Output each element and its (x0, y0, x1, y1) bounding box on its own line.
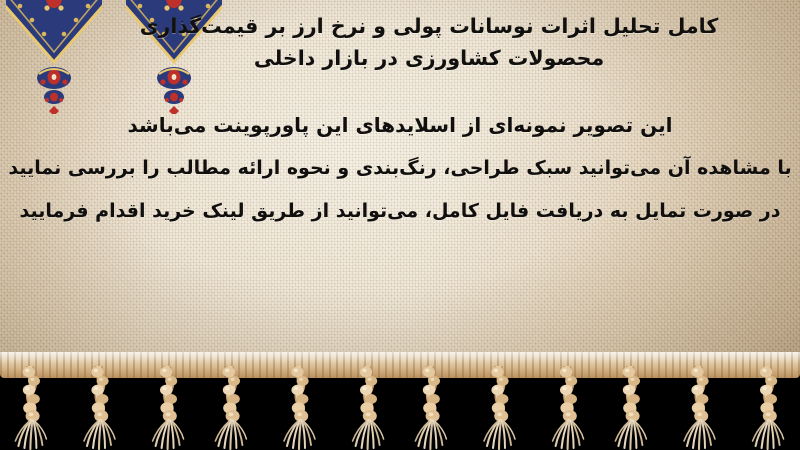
tassel-svg (77, 366, 123, 450)
fringe-tassel (677, 366, 723, 450)
page-title-line-2: محصولات کشاورزی در بازار داخلی (58, 46, 800, 70)
presentation-slide: کامل تحلیل اثرات نوسانات پولی و نرخ ارز … (0, 0, 800, 450)
tassel-svg (344, 366, 390, 450)
carpet-fringe-row (0, 366, 800, 450)
fringe-tassel (344, 366, 390, 450)
fringe-tassel (77, 366, 123, 450)
page-title-line-1: کامل تحلیل اثرات نوسانات پولی و نرخ ارز … (58, 14, 800, 38)
body-text-line-2: با مشاهده آن می‌توانید سبک طراحی، رنگ‌بن… (0, 157, 800, 179)
body-text-line-1: این تصویر نمونه‌ای از اسلایدهای این پاور… (0, 113, 800, 137)
fringe-tassel (277, 366, 323, 450)
tassel-svg (277, 366, 323, 450)
fringe-tassel (744, 366, 790, 450)
tassel-svg (544, 366, 590, 450)
fringe-tassel (610, 366, 656, 450)
tassel-svg (744, 366, 790, 450)
fringe-tassel (144, 366, 190, 450)
tassel-svg (610, 366, 656, 450)
tassel-svg (210, 366, 256, 450)
cord-highlight (0, 352, 800, 362)
fringe-tassel (544, 366, 590, 450)
fringe-tassel (410, 366, 456, 450)
tassel-svg (477, 366, 523, 450)
slide-text-layer: کامل تحلیل اثرات نوسانات پولی و نرخ ارز … (0, 0, 800, 378)
tassel-svg (410, 366, 456, 450)
tassel-svg (677, 366, 723, 450)
fringe-tassel (477, 366, 523, 450)
fringe-tassel (10, 366, 56, 450)
tassel-svg (10, 366, 56, 450)
body-text-line-3: در صورت تمایل به دریافت فایل کامل، می‌تو… (0, 200, 800, 222)
tassel-svg (144, 366, 190, 450)
fringe-tassel (210, 366, 256, 450)
